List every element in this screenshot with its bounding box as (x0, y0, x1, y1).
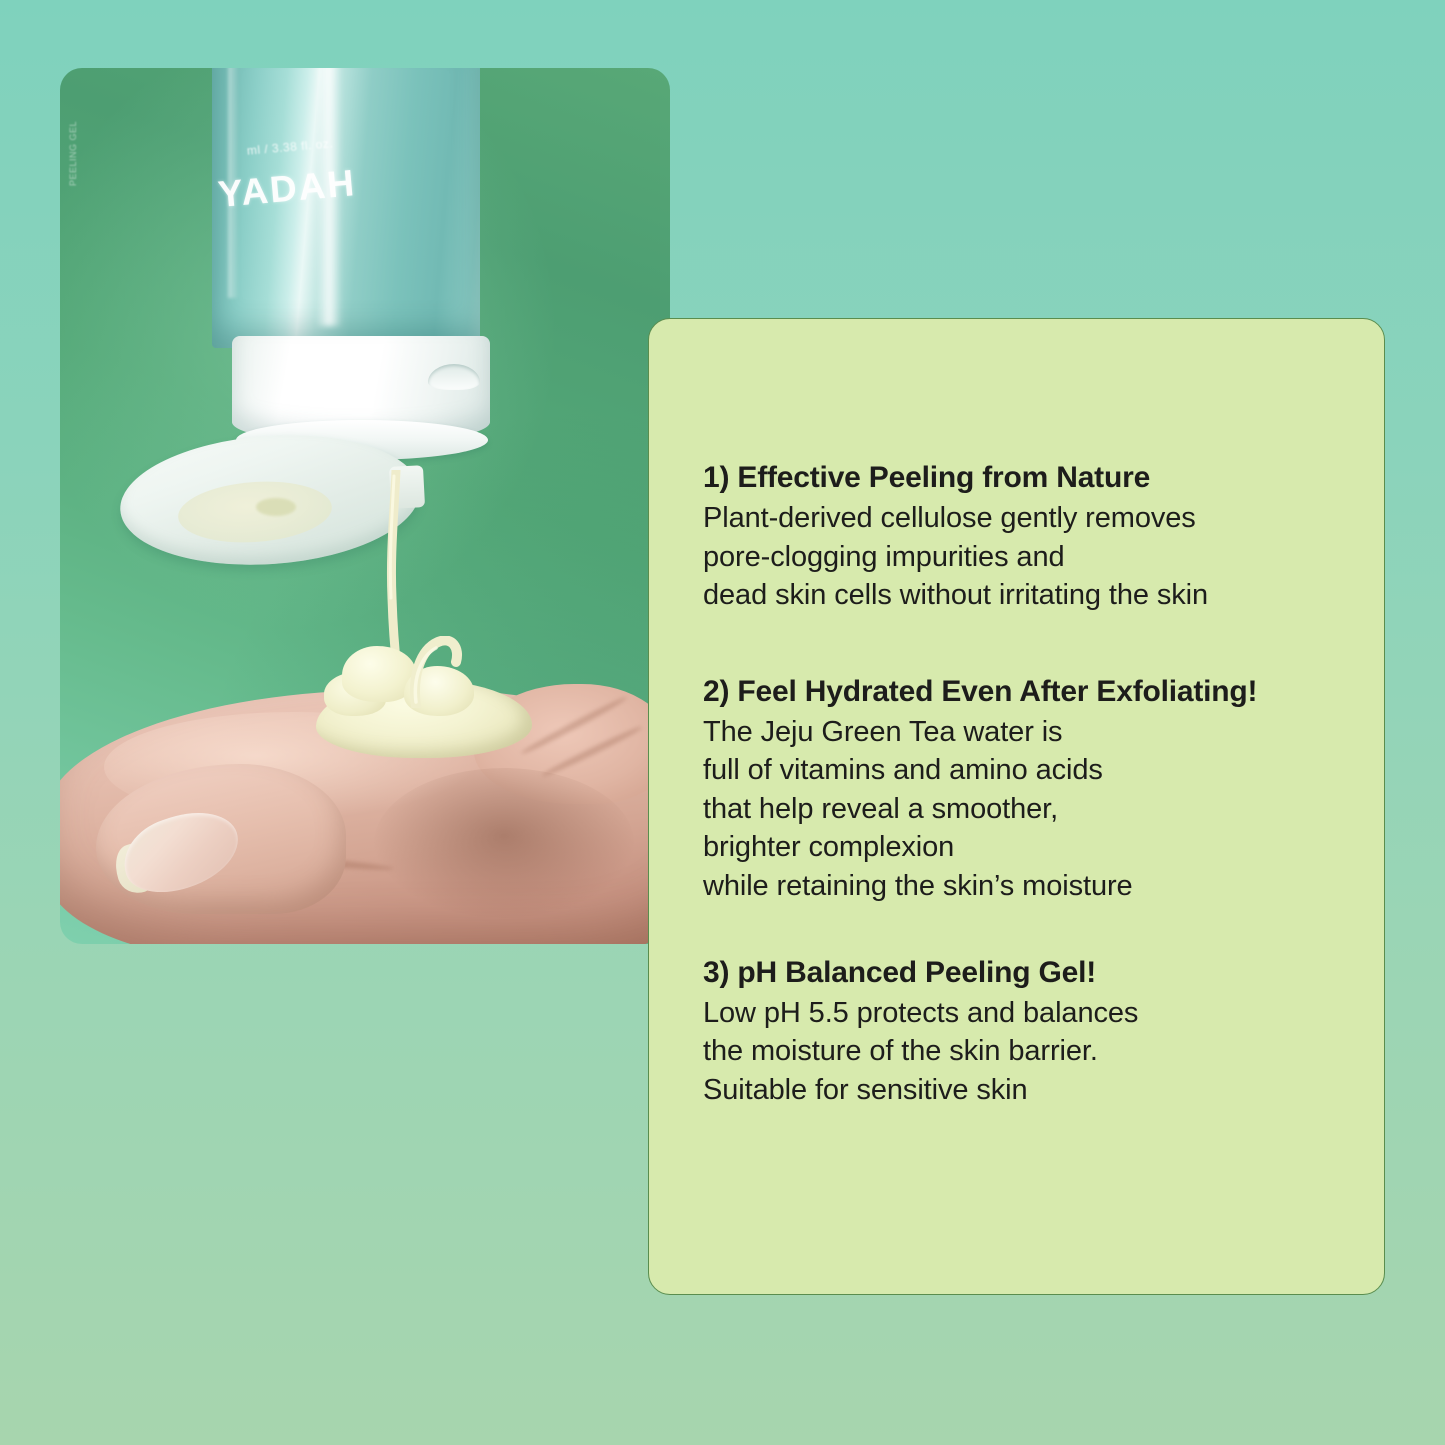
cap-thumb-notch (428, 364, 480, 390)
feature-3-line-2: the moisture of the skin barrier. (703, 1032, 1363, 1071)
feature-1-heading: 1) Effective Peeling from Nature (703, 461, 1363, 495)
cap-lid-seal-dimple (256, 498, 296, 516)
feature-2-line-1: The Jeju Green Tea water is (703, 713, 1363, 752)
feature-1-line-3: dead skin cells without irritating the s… (703, 576, 1363, 615)
feature-1-line-1: Plant-derived cellulose gently removes (703, 499, 1363, 538)
marketing-image-canvas: ml / 3.38 fl. oz. YADAH PEELING GEL (0, 0, 1445, 1445)
product-photo: ml / 3.38 fl. oz. YADAH PEELING GEL (60, 68, 670, 944)
feature-3-line-1: Low pH 5.5 protects and balances (703, 994, 1363, 1033)
feature-2-line-2: full of vitamins and amino acids (703, 751, 1363, 790)
tube-side-text: PEELING GEL (68, 96, 78, 186)
feature-2-line-4: brighter complexion (703, 828, 1363, 867)
feature-2-heading: 2) Feel Hydrated Even After Exfoliating! (703, 675, 1363, 709)
feature-1-line-2: pore-clogging impurities and (703, 538, 1363, 577)
feature-item-1: 1) Effective Peeling from Nature Plant-d… (703, 461, 1363, 615)
gel-blob-on-palm (308, 636, 540, 762)
feature-3-line-3: Suitable for sensitive skin (703, 1071, 1363, 1110)
feature-item-3: 3) pH Balanced Peeling Gel! Low pH 5.5 p… (703, 956, 1363, 1110)
feature-2-line-5: while retaining the skin’s moisture (703, 867, 1363, 906)
feature-list: 1) Effective Peeling from Nature Plant-d… (703, 461, 1363, 1109)
feature-text-panel: 1) Effective Peeling from Nature Plant-d… (648, 318, 1385, 1295)
product-photo-scene: ml / 3.38 fl. oz. YADAH PEELING GEL (60, 68, 670, 944)
gel-blob-curl (386, 636, 466, 708)
feature-item-2: 2) Feel Hydrated Even After Exfoliating!… (703, 675, 1363, 906)
palm-shadow (374, 768, 634, 918)
feature-3-heading: 3) pH Balanced Peeling Gel! (703, 956, 1363, 990)
feature-2-line-3: that help reveal a smoother, (703, 790, 1363, 829)
